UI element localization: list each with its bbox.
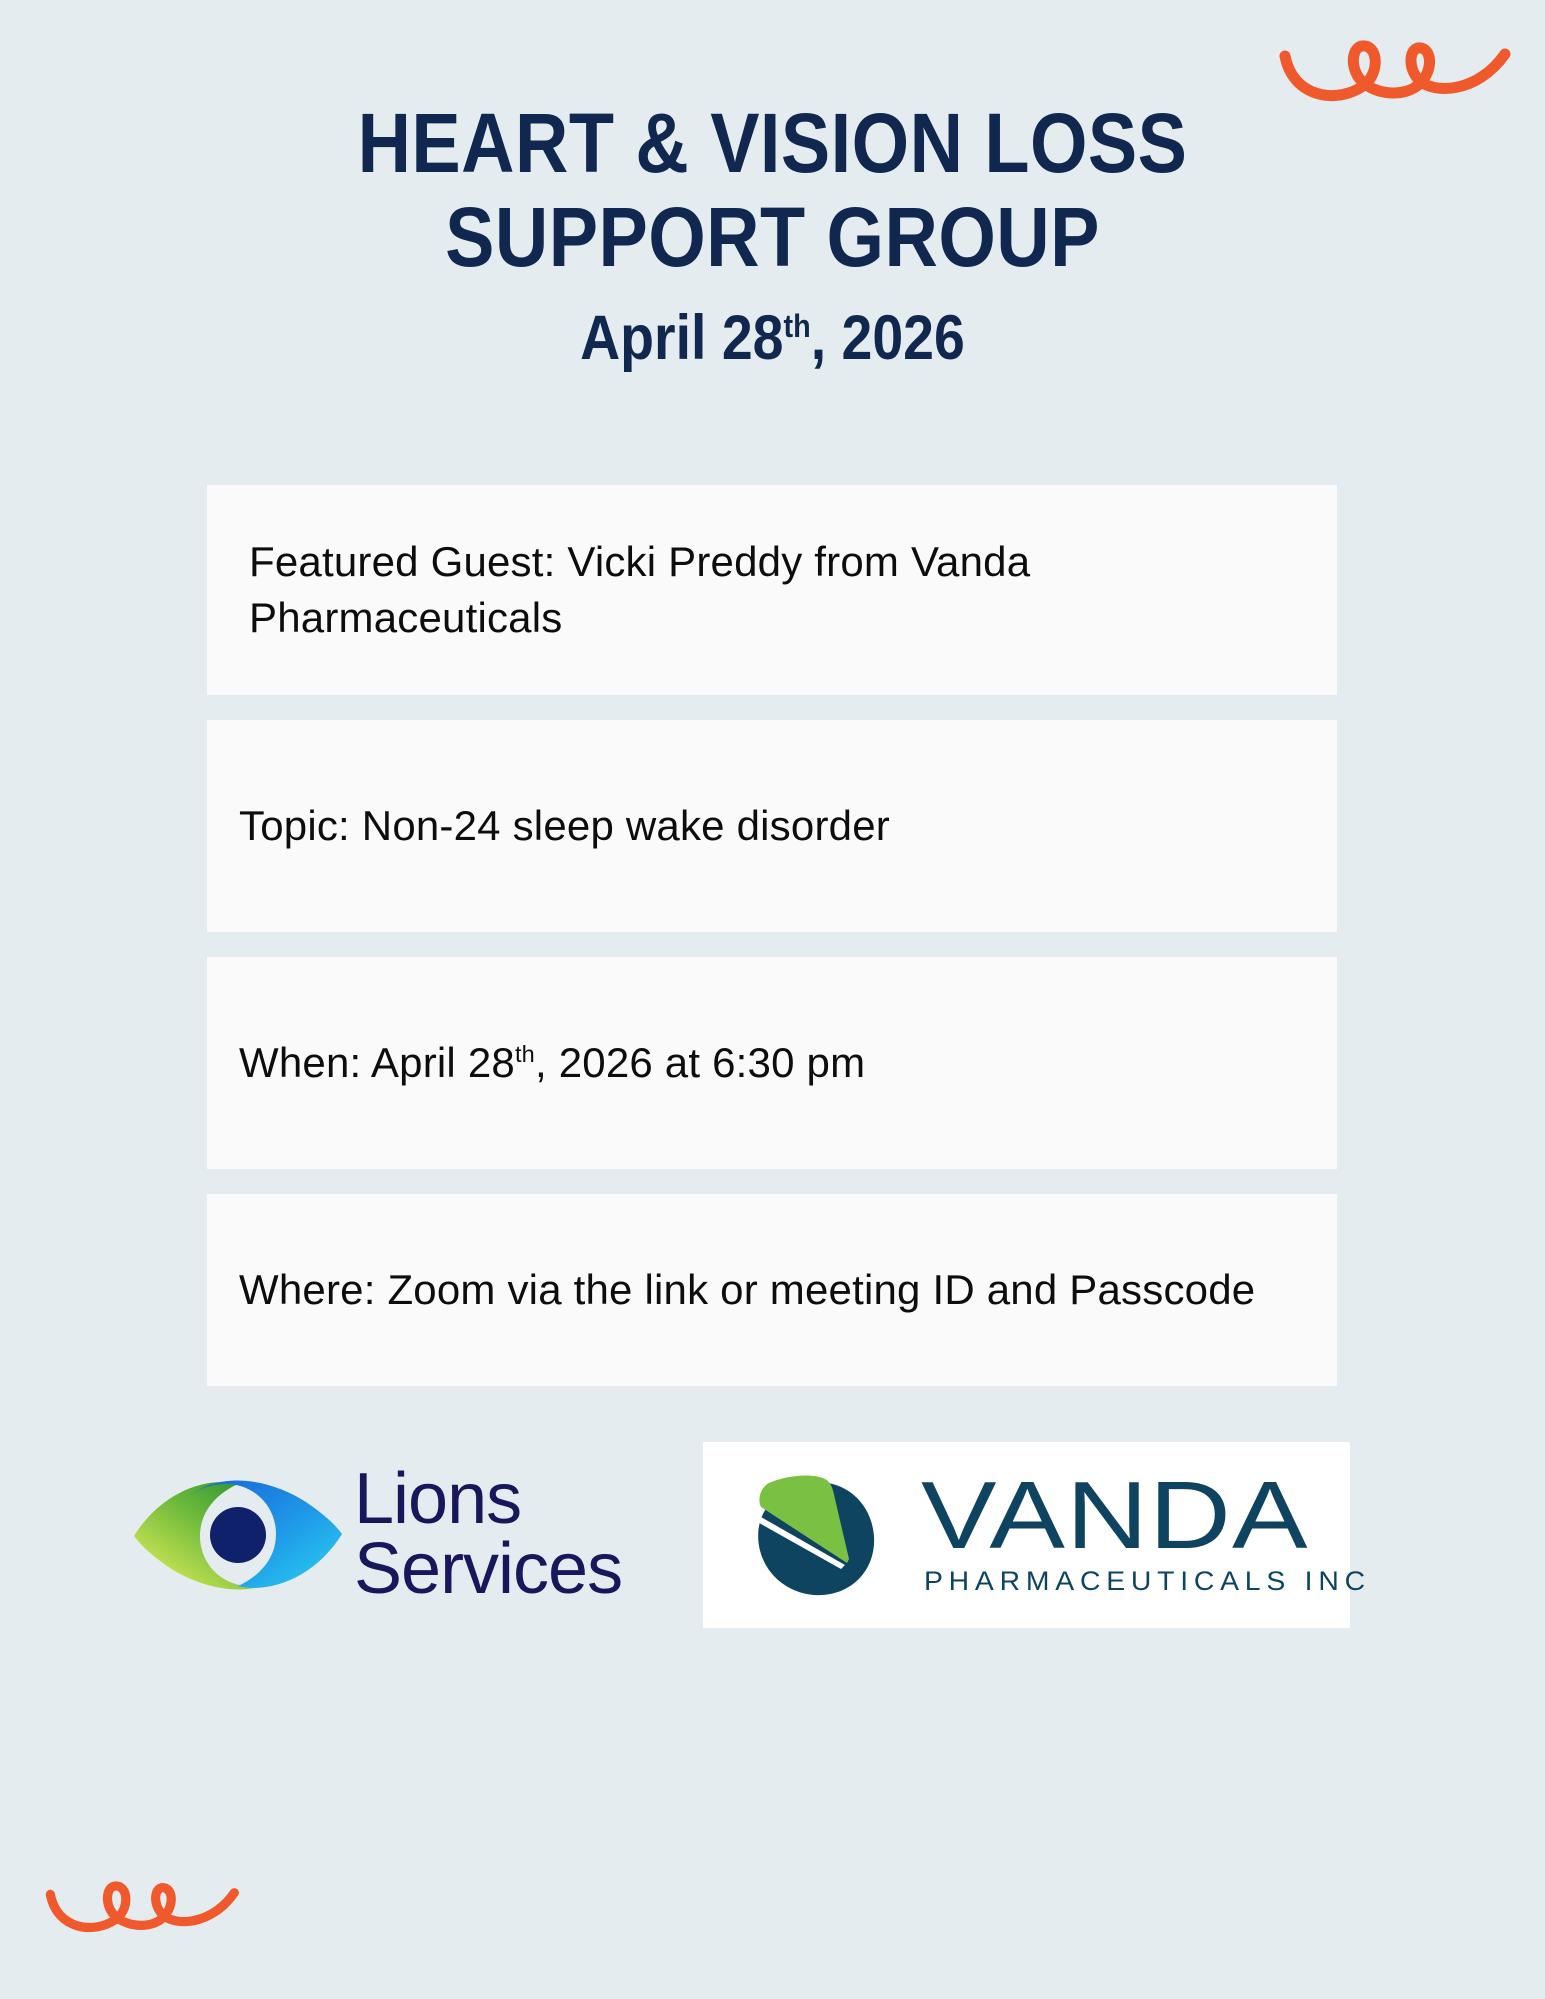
lions-eye-icon bbox=[130, 1460, 346, 1610]
vanda-wordmark: VANDA bbox=[921, 1472, 1427, 1560]
lions-services-logo: Lions Services bbox=[130, 1455, 685, 1615]
info-box-list: Featured Guest: Vicki Preddy from Vanda … bbox=[207, 485, 1337, 1411]
vanda-tagline: PHARMACEUTICALS INC bbox=[924, 1566, 1371, 1597]
event-date: April 28th, 2026 bbox=[93, 302, 1453, 374]
lions-services-wordmark: Lions Services bbox=[354, 1465, 622, 1603]
info-box-topic: Topic: Non-24 sleep wake disorder bbox=[207, 720, 1337, 932]
where-text: Where: Zoom via the link or meeting ID a… bbox=[239, 1262, 1255, 1318]
flyer-header: HEART & VISION LOSS SUPPORT GROUP April … bbox=[0, 96, 1545, 374]
page-title: HEART & VISION LOSS SUPPORT GROUP bbox=[93, 96, 1453, 284]
info-box-featured-guest: Featured Guest: Vicki Preddy from Vanda … bbox=[207, 485, 1337, 695]
squiggle-decoration-icon bbox=[34, 1871, 254, 1963]
vanda-mark-icon bbox=[741, 1465, 891, 1605]
title-line-2: SUPPORT GROUP bbox=[93, 190, 1453, 284]
when-text: When: April 28th, 2026 at 6:30 pm bbox=[239, 1035, 865, 1091]
info-box-where: Where: Zoom via the link or meeting ID a… bbox=[207, 1194, 1337, 1386]
flyer-canvas: HEART & VISION LOSS SUPPORT GROUP April … bbox=[0, 0, 1545, 1999]
event-date-ordinal: th bbox=[784, 307, 811, 344]
logo-strip: Lions Services VANDA PHARMACEUTICALS INC bbox=[130, 1437, 1350, 1632]
topic-text: Topic: Non-24 sleep wake disorder bbox=[239, 798, 890, 854]
when-text-after: , 2026 at 6:30 pm bbox=[535, 1039, 865, 1086]
when-ordinal: th bbox=[515, 1041, 535, 1067]
when-text-before: When: April 28 bbox=[239, 1039, 515, 1086]
info-box-when: When: April 28th, 2026 at 6:30 pm bbox=[207, 957, 1337, 1169]
vanda-text-block: VANDA PHARMACEUTICALS INC bbox=[921, 1472, 1350, 1597]
event-date-suffix: , 2026 bbox=[811, 303, 965, 373]
lions-word-line-1: Lions bbox=[354, 1465, 622, 1534]
featured-guest-text: Featured Guest: Vicki Preddy from Vanda … bbox=[239, 534, 1305, 646]
lions-word-line-2: Services bbox=[354, 1535, 622, 1604]
event-date-prefix: April 28 bbox=[580, 303, 783, 373]
vanda-pharmaceuticals-logo: VANDA PHARMACEUTICALS INC bbox=[703, 1442, 1350, 1628]
title-line-1: HEART & VISION LOSS bbox=[93, 96, 1453, 190]
